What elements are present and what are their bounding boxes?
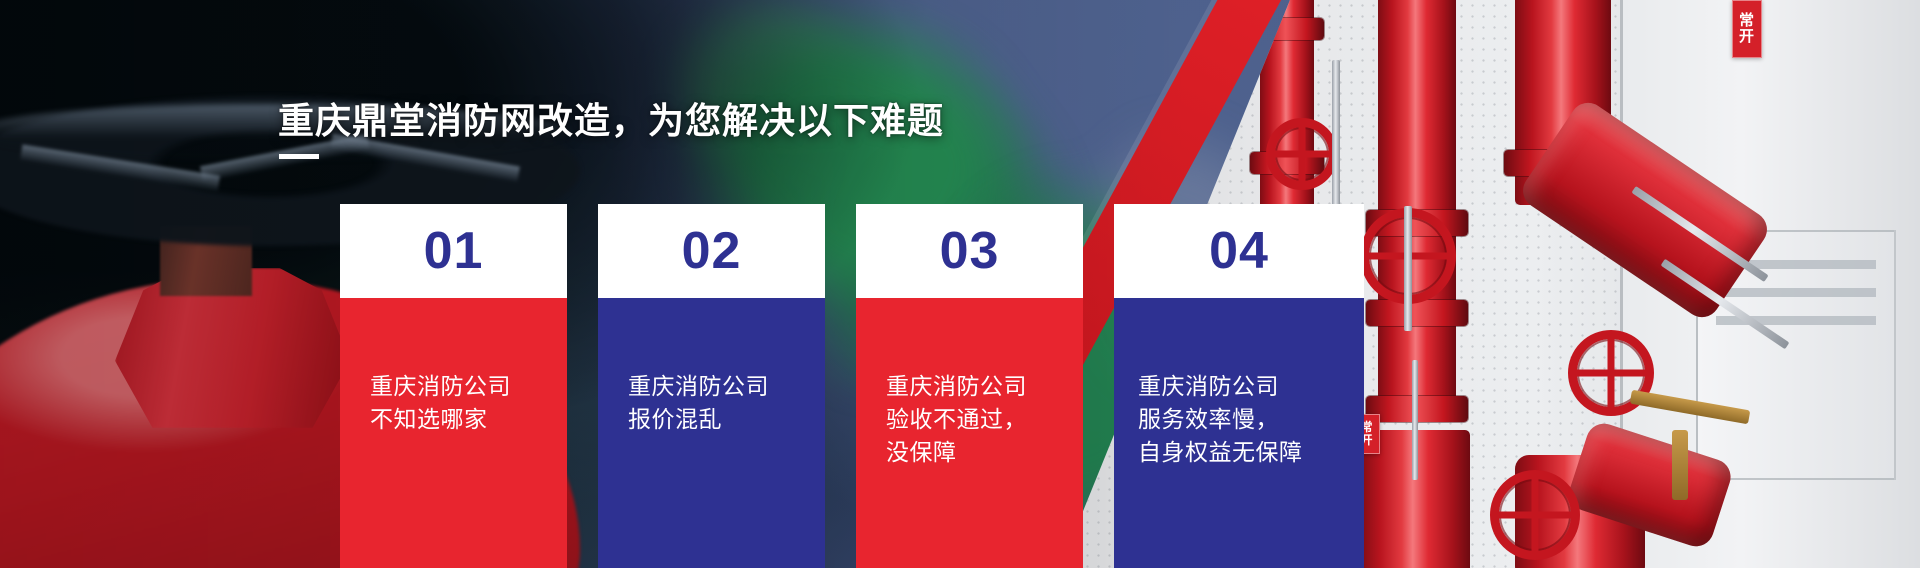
- card-text: 重庆消防公司 服务效率慢， 自身权益无保障: [1114, 298, 1364, 568]
- problem-card[interactable]: 04 重庆消防公司 服务效率慢， 自身权益无保障: [1114, 204, 1364, 568]
- card-number: 03: [856, 204, 1083, 298]
- title-underline-rule: [279, 154, 319, 159]
- problem-card[interactable]: 03 重庆消防公司 验收不通过， 没保障: [856, 204, 1083, 568]
- page-title: 重庆鼎堂消防网改造，为您解决以下难题: [278, 92, 944, 144]
- card-number: 01: [340, 204, 567, 298]
- problem-card[interactable]: 02 重庆消防公司 报价混乱: [598, 204, 825, 568]
- card-text: 重庆消防公司 验收不通过， 没保障: [856, 298, 1083, 568]
- banner-content: 重庆鼎堂消防网改造，为您解决以下难题 01 重庆消防公司 不知选哪家 02 重庆…: [0, 0, 1920, 568]
- card-number: 02: [598, 204, 825, 298]
- card-text: 重庆消防公司 报价混乱: [598, 298, 825, 568]
- card-number: 04: [1114, 204, 1364, 298]
- card-text: 重庆消防公司 不知选哪家: [340, 298, 567, 568]
- promo-banner: 常开 常闭 常开 重庆鼎堂消防网改造，为您解决以下难题 01 重庆消防公司 不知…: [0, 0, 1920, 568]
- problem-card[interactable]: 01 重庆消防公司 不知选哪家: [340, 204, 567, 568]
- problem-card-list: 01 重庆消防公司 不知选哪家 02 重庆消防公司 报价混乱 03 重庆消防公司…: [340, 204, 1364, 568]
